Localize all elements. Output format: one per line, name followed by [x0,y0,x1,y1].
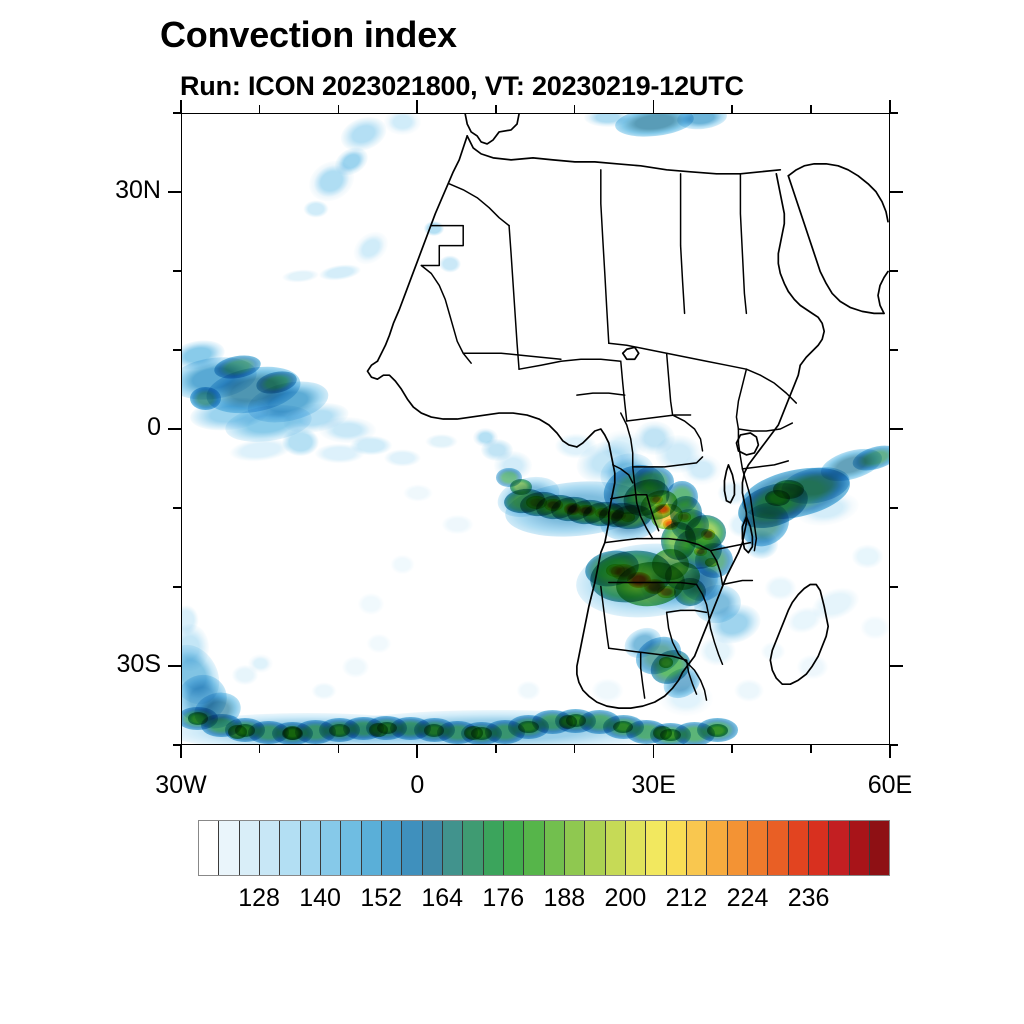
y-axis-label: 30N [31,176,161,205]
colorbar-cell [443,821,463,875]
axis-tick [890,191,903,193]
coastline-overlay [182,114,889,744]
colorbar-tick-label: 140 [299,884,341,913]
axis-tick [259,105,261,113]
axis-tick [173,586,181,588]
colorbar-cell [260,821,280,875]
map-panel[interactable] [181,113,890,745]
colorbar-cell [545,821,565,875]
colorbar-cell [423,821,443,875]
axis-tick [173,112,181,114]
axis-tick [890,586,898,588]
colorbar-tick-label: 236 [788,884,830,913]
axis-tick [168,191,181,193]
axis-tick [168,665,181,667]
axis-tick [890,744,898,746]
colorbar-cell [280,821,300,875]
colorbar-tick-label: 128 [238,884,280,913]
axis-tick [890,349,898,351]
axis-tick [890,428,903,430]
axis-tick [890,270,898,272]
axis-tick [495,105,497,113]
x-axis-label: 60E [820,771,960,800]
colorbar-cell [687,821,707,875]
colorbar-tick-label: 152 [360,884,402,913]
axis-tick [495,745,497,753]
axis-tick [338,105,340,113]
colorbar-cell [789,821,809,875]
colorbar-cell [809,821,829,875]
axis-tick [338,745,340,753]
x-axis-label: 30W [111,771,251,800]
x-axis-label: 30E [584,771,724,800]
colorbar-cell [504,821,524,875]
y-axis-label: 30S [31,650,161,679]
axis-tick [890,507,898,509]
page-title: Convection index [160,14,457,56]
axis-tick [574,745,576,753]
colorbar-cell [219,821,239,875]
colorbar-cell [850,821,870,875]
colorbar-tick-label: 164 [421,884,463,913]
axis-tick [173,507,181,509]
axis-tick [259,745,261,753]
axis-tick [810,745,812,753]
axis-tick [173,349,181,351]
axis-tick [416,745,418,758]
colorbar[interactable] [198,820,890,876]
axis-tick [890,665,903,667]
colorbar-cell [748,821,768,875]
colorbar-cell [667,821,687,875]
colorbar-cell [768,821,788,875]
figure-root: Convection index Run: ICON 2023021800, V… [0,0,1024,1024]
colorbar-cell [301,821,321,875]
colorbar-tick-label: 200 [605,884,647,913]
colorbar-tick-label: 176 [482,884,524,913]
colorbar-tick-label: 224 [727,884,769,913]
axis-tick [574,105,576,113]
colorbar-cell [626,821,646,875]
colorbar-cell [606,821,626,875]
colorbar-cell [585,821,605,875]
colorbar-tick-label: 212 [666,884,708,913]
colorbar-cell [524,821,544,875]
colorbar-tick-label: 188 [543,884,585,913]
colorbar-cell [341,821,361,875]
axis-tick [168,428,181,430]
figure-subtitle: Run: ICON 2023021800, VT: 20230219-12UTC [180,71,744,102]
colorbar-cell [199,821,219,875]
axis-tick [731,105,733,113]
colorbar-cell [382,821,402,875]
colorbar-cell [463,821,483,875]
colorbar-labels: 128140152164176188200212224236 [198,884,890,918]
colorbar-cell [870,821,889,875]
axis-tick [653,100,655,113]
axis-tick [890,112,898,114]
colorbar-cell [829,821,849,875]
y-axis-label: 0 [31,413,161,442]
axis-tick [889,745,891,758]
colorbar-cell [484,821,504,875]
x-axis-label: 0 [347,771,487,800]
colorbar-cell [707,821,727,875]
axis-tick [180,745,182,758]
colorbar-cell [565,821,585,875]
axis-tick [173,270,181,272]
colorbar-cell [362,821,382,875]
colorbar-cell [728,821,748,875]
colorbar-cell [240,821,260,875]
colorbar-cell [321,821,341,875]
colorbar-cell [646,821,666,875]
colorbar-cell [402,821,422,875]
axis-tick [173,744,181,746]
axis-tick [810,105,812,113]
axis-tick [731,745,733,753]
axis-tick [653,745,655,758]
axis-tick [416,100,418,113]
